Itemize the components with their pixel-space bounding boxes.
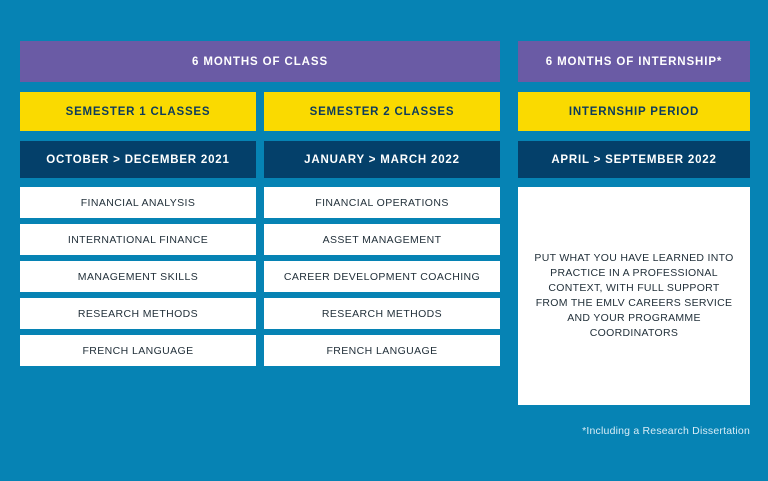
period-semester-2: JANUARY > MARCH 2022	[264, 141, 500, 178]
footnote: *Including a Research Dissertation	[582, 425, 750, 437]
subtitle-internship-period: INTERNSHIP PERIOD	[518, 92, 750, 131]
subtitle-semester-2: SEMESTER 2 CLASSES	[264, 92, 500, 131]
course-item: ASSET MANAGEMENT	[264, 224, 500, 255]
course-list-semester-2: FINANCIAL OPERATIONS ASSET MANAGEMENT CA…	[264, 187, 500, 366]
course-item: FRENCH LANGUAGE	[20, 335, 256, 366]
course-item: INTERNATIONAL FINANCE	[20, 224, 256, 255]
course-item: FRENCH LANGUAGE	[264, 335, 500, 366]
course-item: MANAGEMENT SKILLS	[20, 261, 256, 292]
internship-description-panel: PUT WHAT YOU HAVE LEARNED INTO PRACTICE …	[518, 187, 750, 405]
internship-description-text: PUT WHAT YOU HAVE LEARNED INTO PRACTICE …	[534, 251, 734, 341]
course-item: CAREER DEVELOPMENT COACHING	[264, 261, 500, 292]
course-item: FINANCIAL ANALYSIS	[20, 187, 256, 218]
course-item: FINANCIAL OPERATIONS	[264, 187, 500, 218]
course-item: RESEARCH METHODS	[20, 298, 256, 329]
programme-timeline-diagram: 6 MONTHS OF CLASS 6 MONTHS OF INTERNSHIP…	[0, 0, 768, 481]
period-semester-1: OCTOBER > DECEMBER 2021	[20, 141, 256, 178]
period-internship: APRIL > SEPTEMBER 2022	[518, 141, 750, 178]
phase-header-class: 6 MONTHS OF CLASS	[20, 41, 500, 82]
course-item: RESEARCH METHODS	[264, 298, 500, 329]
subtitle-semester-1: SEMESTER 1 CLASSES	[20, 92, 256, 131]
phase-header-internship: 6 MONTHS OF INTERNSHIP*	[518, 41, 750, 82]
course-list-semester-1: FINANCIAL ANALYSIS INTERNATIONAL FINANCE…	[20, 187, 256, 366]
